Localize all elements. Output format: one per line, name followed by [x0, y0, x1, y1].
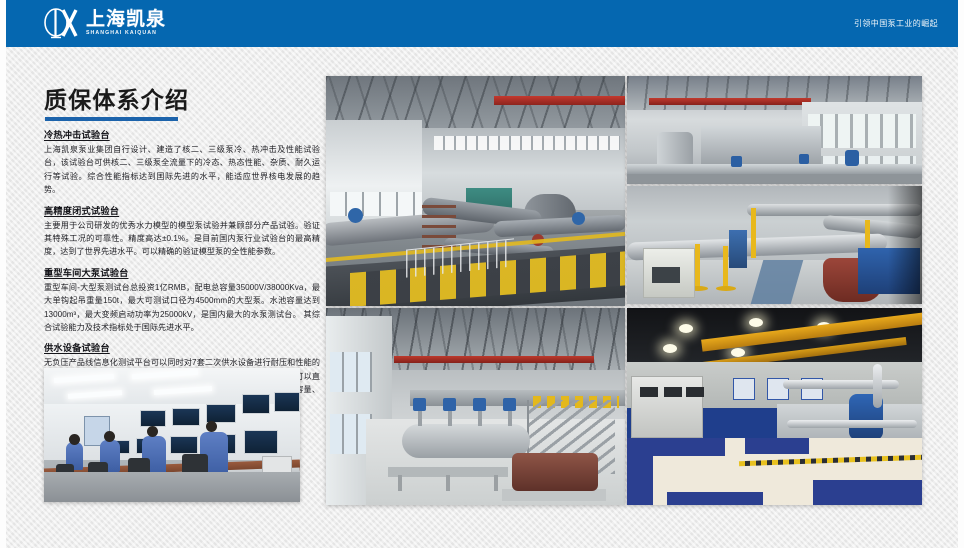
section-heading: 供水设备试验台 [44, 341, 320, 355]
title-underline [45, 117, 178, 121]
brand-logo[interactable]: 上海凯泉 SHANGHAI KAIQUAN [42, 7, 166, 40]
section-heading: 重型车间大泵试验台 [44, 266, 320, 280]
photo-water-supply-test-room [627, 308, 922, 505]
photo-pipeline-test-rig [627, 186, 922, 304]
photo-control-monitoring-room [44, 368, 300, 502]
page-edge-right [958, 0, 964, 548]
header-bar: 上海凯泉 SHANGHAI KAIQUAN 引领中国泵工业的崛起 [6, 0, 958, 47]
section-high-precision-closed: 高精度闭式试验台 主要用于公司研发的优秀水力模型的模型泵试验并兼顾部分产品试验。… [44, 204, 320, 259]
photo-heavy-workshop-test-bench [326, 76, 625, 306]
brand-name-cn: 上海凯泉 [86, 10, 166, 30]
header-tagline: 引领中国泵工业的崛起 [854, 0, 938, 47]
section-heading: 冷热冲击试验台 [44, 128, 320, 142]
section-cold-hot-shock: 冷热冲击试验台 上海凯泉泵业集团自行设计、建造了核二、三级泵冷、热冲击及性能试验… [44, 128, 320, 197]
section-body: 主要用于公司研发的优秀水力模型的模型泵试验并兼顾部分产品试验。验证其特殊工况的可… [44, 219, 320, 259]
brand-name-en: SHANGHAI KAIQUAN [86, 30, 166, 37]
page-title: 质保体系介绍 [44, 86, 189, 114]
page-edge-left [0, 0, 6, 548]
photo-large-pump-hall [326, 308, 625, 505]
section-body: 上海凯泉泵业集团自行设计、建造了核二、三级泵冷、热冲击及性能试验台，该试验台可供… [44, 143, 320, 197]
photo-closed-loop-test-hall [627, 76, 922, 184]
section-heavy-workshop: 重型车间大泵试验台 重型车间-大型泵测试台总投资1亿RMB，配电总容量35000… [44, 266, 320, 335]
kaiquan-kx-monogram-icon [42, 7, 80, 40]
slide-canvas: 上海凯泉 SHANGHAI KAIQUAN 引领中国泵工业的崛起 质保体系介绍 … [0, 0, 964, 548]
section-body: 重型车间-大型泵测试台总投资1亿RMB，配电总容量35000V/38000Kva… [44, 281, 320, 335]
section-heading: 高精度闭式试验台 [44, 204, 320, 218]
